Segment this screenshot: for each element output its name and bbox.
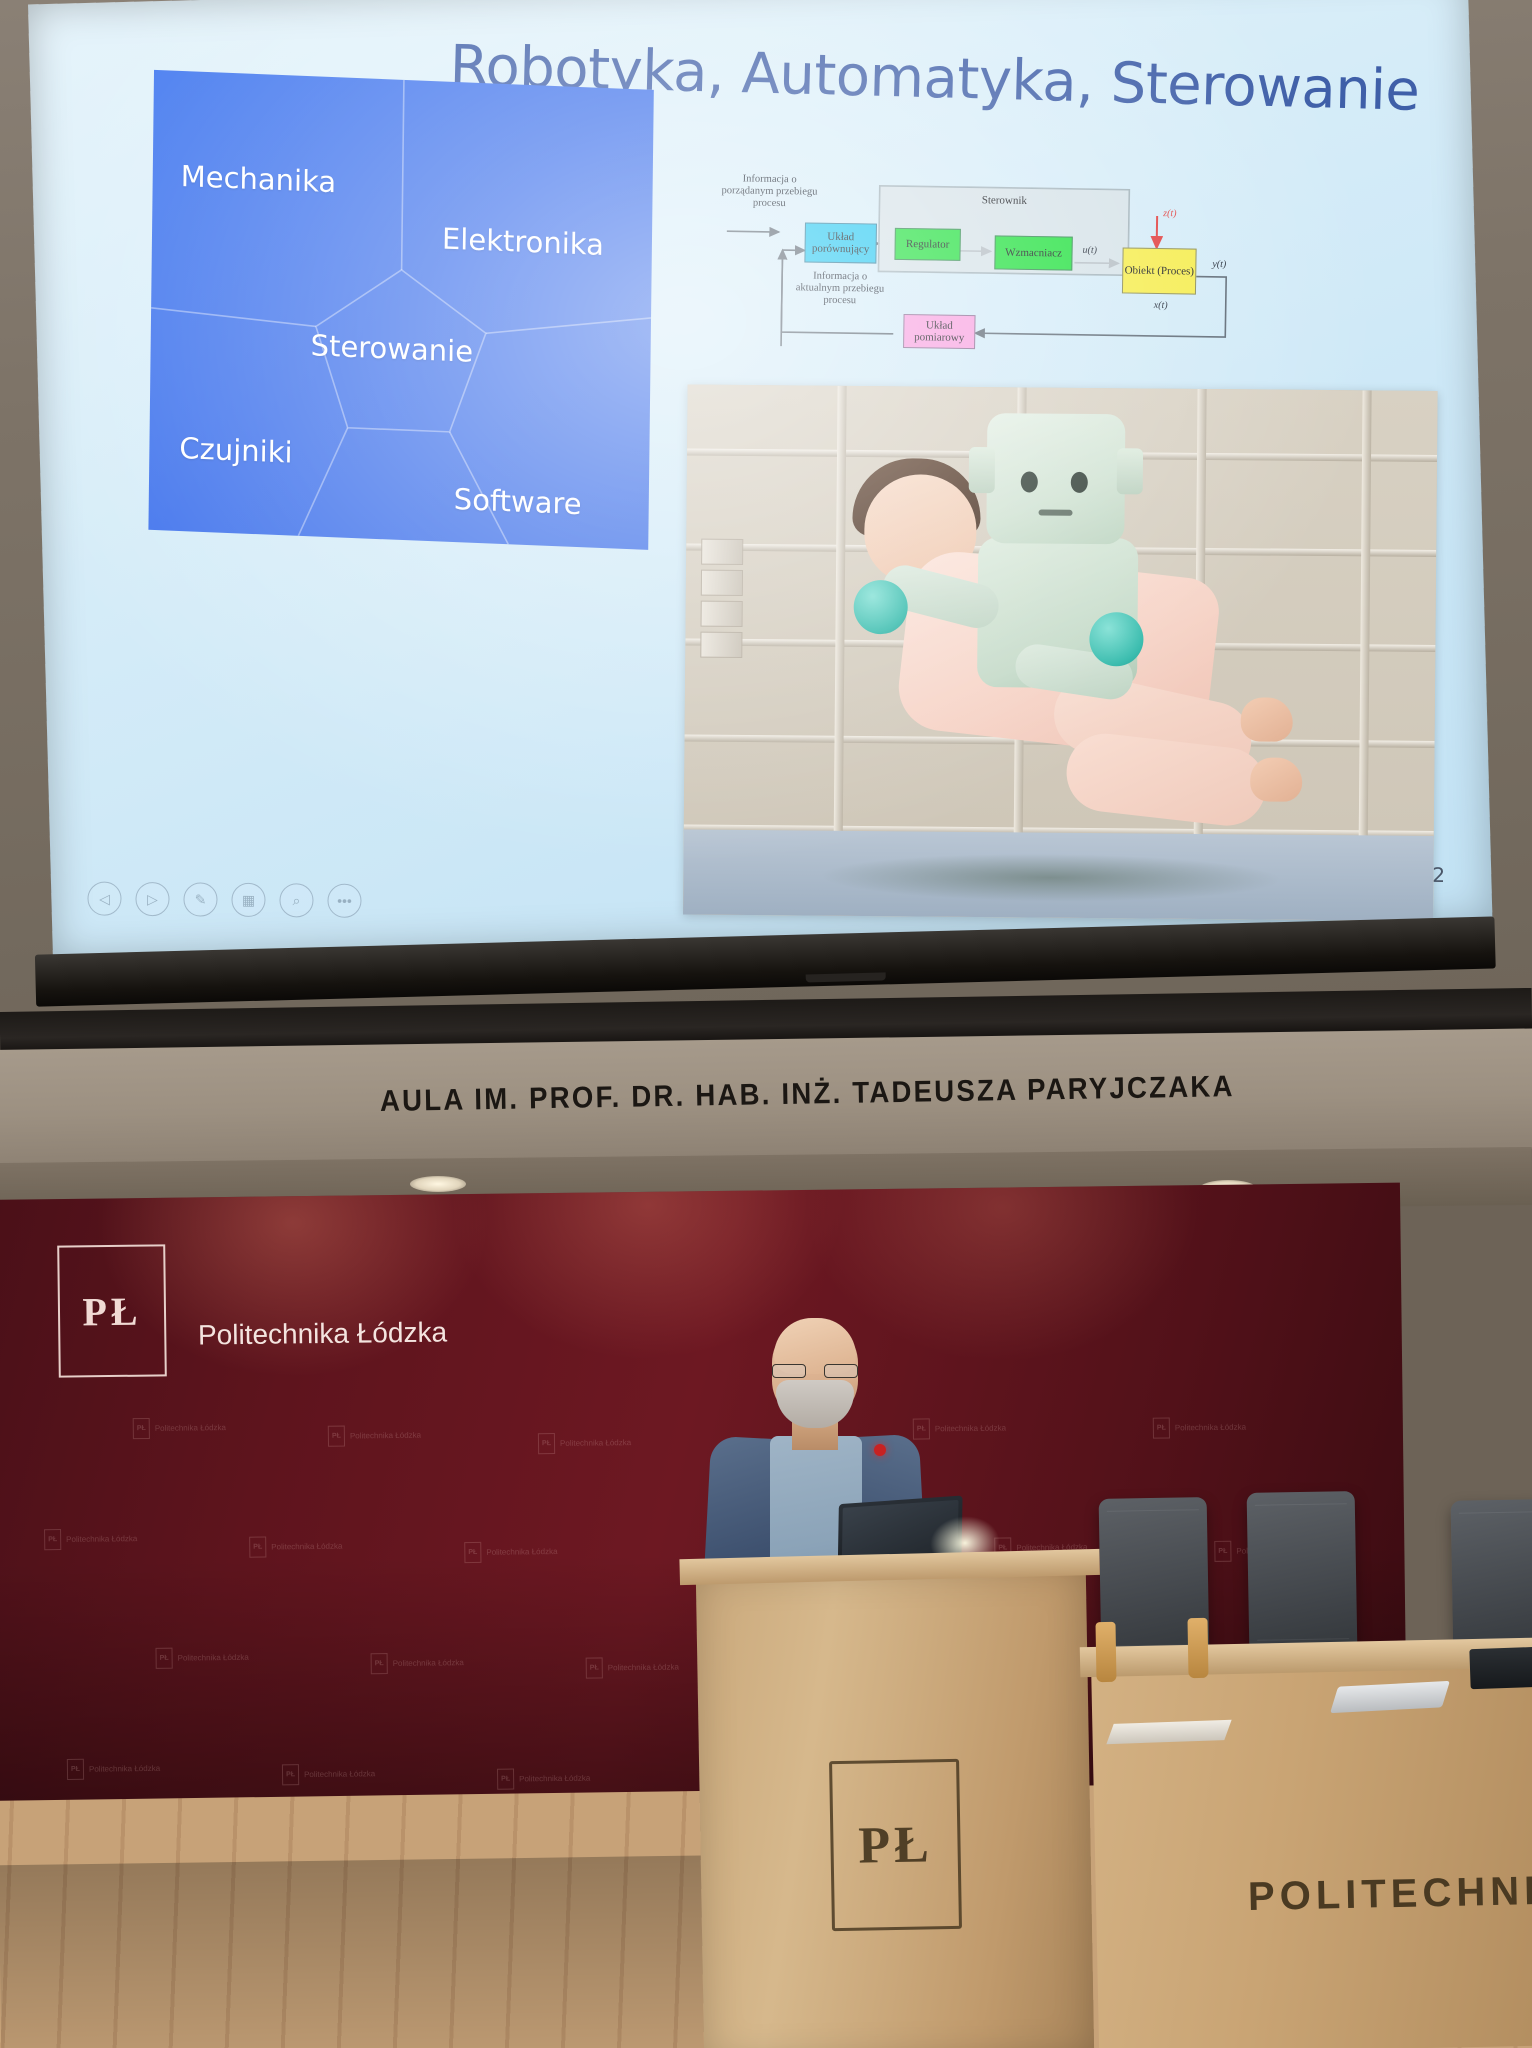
presentation-toolbar[interactable]: ◁ ▷ ✎ ▦ ⌕ •••	[87, 881, 361, 917]
pentagon-label-sterowanie: Sterowanie	[310, 328, 473, 369]
backdrop-watermark: PŁ Politechnika Łódzka	[67, 1758, 160, 1780]
ceiling-light	[410, 1176, 466, 1192]
diagram-signal-y: y(t)	[1212, 259, 1226, 270]
backdrop-watermark: PŁ Politechnika Łódzka	[155, 1647, 248, 1669]
competence-pentagon-diagram: Mechanika Elektronika Sterowanie Czujnik…	[148, 70, 653, 550]
university-name: Politechnika Łódzka	[198, 1316, 447, 1351]
speaker-podium: PŁ	[696, 1567, 1094, 2048]
backdrop-watermark: PŁ Politechnika Łódzka	[133, 1417, 226, 1439]
grid-icon[interactable]: ▦	[231, 883, 265, 917]
play-icon[interactable]: ▷	[135, 882, 169, 916]
pentagon-label-mechanika: Mechanika	[181, 159, 337, 199]
water-bottle	[1095, 1622, 1116, 1682]
zoom-icon[interactable]: ⌕	[279, 883, 313, 917]
pen-icon[interactable]: ✎	[183, 882, 217, 916]
pentagon-label-elektronika: Elektronika	[442, 221, 604, 261]
backdrop-watermark: PŁ Politechnika Łódzka	[282, 1763, 375, 1785]
projection-screen: Robotyka, Automatyka, Sterowanie Mechani…	[10, 0, 1506, 1015]
previous-slide-icon[interactable]: ◁	[87, 881, 121, 915]
pentagon-dividers	[148, 70, 653, 550]
diagram-box-uklad-porownujacy: Układ porównujący	[804, 222, 877, 263]
diagram-box-obiekt: Obiekt (Proces)	[1122, 247, 1197, 294]
stage-chair	[1247, 1491, 1358, 1653]
diagram-box-regulator: Regulator	[894, 228, 960, 261]
diagram-note-setpoint: Informacja o porządanym przebiegu proces…	[719, 173, 820, 211]
backdrop-watermark: PŁ Politechnika Łódzka	[1153, 1417, 1246, 1439]
robot-eye	[1021, 471, 1038, 492]
control-loop-diagram: Sterownik Układ porównujący Regulator Wz…	[724, 169, 1308, 418]
more-options-icon[interactable]: •••	[327, 884, 361, 918]
floor-shadow	[0, 1855, 761, 2048]
robot-hand	[853, 580, 907, 634]
slide-photo-robot-with-child	[683, 384, 1438, 921]
presentation-slide[interactable]: Robotyka, Automatyka, Sterowanie Mechani…	[28, 0, 1493, 959]
glasses-icon	[770, 1364, 862, 1378]
diagram-signal-x: x(t)	[1154, 300, 1168, 311]
child-foot	[1250, 757, 1302, 801]
water-bottle	[1187, 1618, 1208, 1678]
diagram-note-feedback: Informacja o aktualnym przebiegu procesu	[792, 270, 889, 308]
diagram-signal-z: z(t)	[1163, 208, 1177, 219]
backdrop-watermark: PŁ Politechnika Łódzka	[464, 1541, 557, 1563]
podium-crest-initials: PŁ	[858, 1815, 933, 1875]
crest-initials: PŁ	[82, 1287, 142, 1335]
pentagon-label-software: Software	[454, 482, 582, 521]
robot-eye	[1071, 472, 1088, 493]
pentagon-label-czujniki: Czujniki	[179, 431, 293, 470]
slide-page-number: 2	[1432, 863, 1445, 887]
screen-case-notch	[806, 972, 886, 982]
robot-ear	[1117, 448, 1143, 494]
shelf-boxes	[700, 538, 743, 658]
diagram-signal-u: u(t)	[1083, 245, 1098, 256]
diagram-box-wzmacniacz: Wzmacniacz	[994, 235, 1073, 270]
table-front-text: POLITECHNI	[1248, 1869, 1532, 1920]
podium-crest-logo: PŁ	[829, 1759, 962, 1931]
backdrop-watermark: PŁ Politechnika Łódzka	[586, 1656, 679, 1678]
robot-hand	[1089, 612, 1143, 666]
child-foot	[1241, 697, 1293, 741]
presenter-beard	[776, 1380, 854, 1428]
crest-inner: PŁ	[82, 1287, 142, 1335]
microphone-indicator	[874, 1444, 886, 1456]
diagram-box-uklad-pomiarowy: Układ pomiarowy	[903, 314, 976, 349]
backdrop-watermark: PŁ Politechnika Łódzka	[328, 1425, 421, 1447]
side-monitor	[1469, 1647, 1532, 1689]
panel-table	[1091, 1645, 1532, 2048]
backdrop-watermark: PŁ Politechnika Łódzka	[497, 1768, 590, 1790]
robot-ear	[969, 447, 995, 493]
backdrop-watermark: PŁ Politechnika Łódzka	[371, 1652, 464, 1674]
university-crest-logo: PŁ	[57, 1244, 167, 1377]
robot-mouth	[1039, 510, 1073, 516]
robot-head	[986, 413, 1125, 544]
backdrop-watermark: PŁ Politechnika Łódzka	[249, 1536, 342, 1558]
backdrop-watermark: PŁ Politechnika Łódzka	[44, 1528, 137, 1550]
lecture-hall-scene: Robotyka, Automatyka, Sterowanie Mechani…	[0, 0, 1532, 2048]
backdrop-watermark: PŁ Politechnika Łódzka	[538, 1432, 631, 1454]
stage-chair	[1451, 1499, 1532, 1661]
